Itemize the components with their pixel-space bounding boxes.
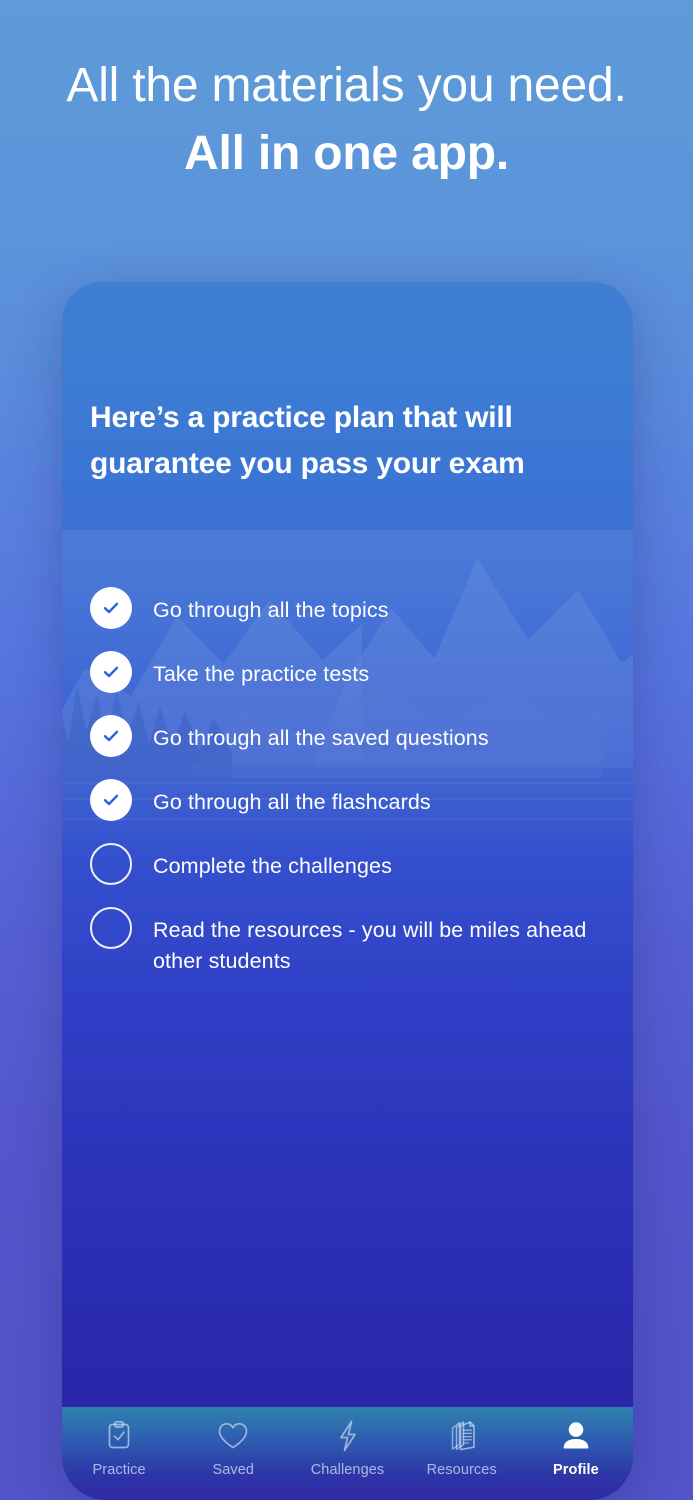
list-item-label: Go through all the saved questions bbox=[153, 715, 489, 754]
nav-label-resources: Resources bbox=[427, 1462, 497, 1478]
person-icon bbox=[560, 1417, 592, 1455]
nav-item-practice[interactable]: Practice bbox=[62, 1417, 176, 1478]
list-item[interactable]: Complete the challenges bbox=[90, 843, 615, 885]
documents-stack-icon bbox=[446, 1417, 478, 1455]
nav-label-saved: Saved bbox=[212, 1462, 254, 1478]
list-item[interactable]: Go through all the saved questions bbox=[90, 715, 615, 757]
list-item[interactable]: Go through all the flashcards bbox=[90, 779, 615, 821]
nav-label-practice: Practice bbox=[93, 1462, 146, 1478]
hero-headline: All the materials you need. All in one a… bbox=[0, 58, 693, 181]
list-item[interactable]: Take the practice tests bbox=[90, 651, 615, 693]
nav-item-saved[interactable]: Saved bbox=[176, 1417, 290, 1478]
phone-screen-card: Here’s a practice plan that will guarant… bbox=[62, 282, 633, 1500]
hero-line-2: All in one app. bbox=[0, 126, 693, 182]
list-item-label: Read the resources - you will be miles a… bbox=[153, 907, 615, 976]
nav-item-profile[interactable]: Profile bbox=[519, 1417, 633, 1478]
check-circle-filled-icon[interactable] bbox=[90, 715, 132, 757]
hero-line-1: All the materials you need. bbox=[0, 58, 693, 114]
list-item-label: Go through all the topics bbox=[153, 587, 389, 626]
nav-label-challenges: Challenges bbox=[311, 1462, 385, 1478]
circle-outline-icon[interactable] bbox=[90, 843, 132, 885]
lightning-bolt-icon bbox=[336, 1417, 360, 1455]
check-circle-filled-icon[interactable] bbox=[90, 651, 132, 693]
check-circle-filled-icon[interactable] bbox=[90, 587, 132, 629]
check-circle-filled-icon[interactable] bbox=[90, 779, 132, 821]
practice-plan-heading: Here’s a practice plan that will guarant… bbox=[90, 395, 590, 486]
list-item-label: Take the practice tests bbox=[153, 651, 369, 690]
list-item[interactable]: Read the resources - you will be miles a… bbox=[90, 907, 615, 976]
list-item-label: Go through all the flashcards bbox=[153, 779, 431, 818]
nav-label-profile: Profile bbox=[553, 1462, 599, 1478]
nav-item-challenges[interactable]: Challenges bbox=[290, 1417, 404, 1478]
bottom-navigation-bar: Practice Saved Challenges bbox=[62, 1407, 633, 1500]
circle-outline-icon[interactable] bbox=[90, 907, 132, 949]
clipboard-check-icon bbox=[105, 1417, 133, 1455]
heart-icon bbox=[217, 1417, 249, 1455]
nav-item-resources[interactable]: Resources bbox=[405, 1417, 519, 1478]
practice-plan-checklist: Go through all the topics Take the pract… bbox=[90, 587, 615, 976]
list-item[interactable]: Go through all the topics bbox=[90, 587, 615, 629]
list-item-label: Complete the challenges bbox=[153, 843, 392, 882]
